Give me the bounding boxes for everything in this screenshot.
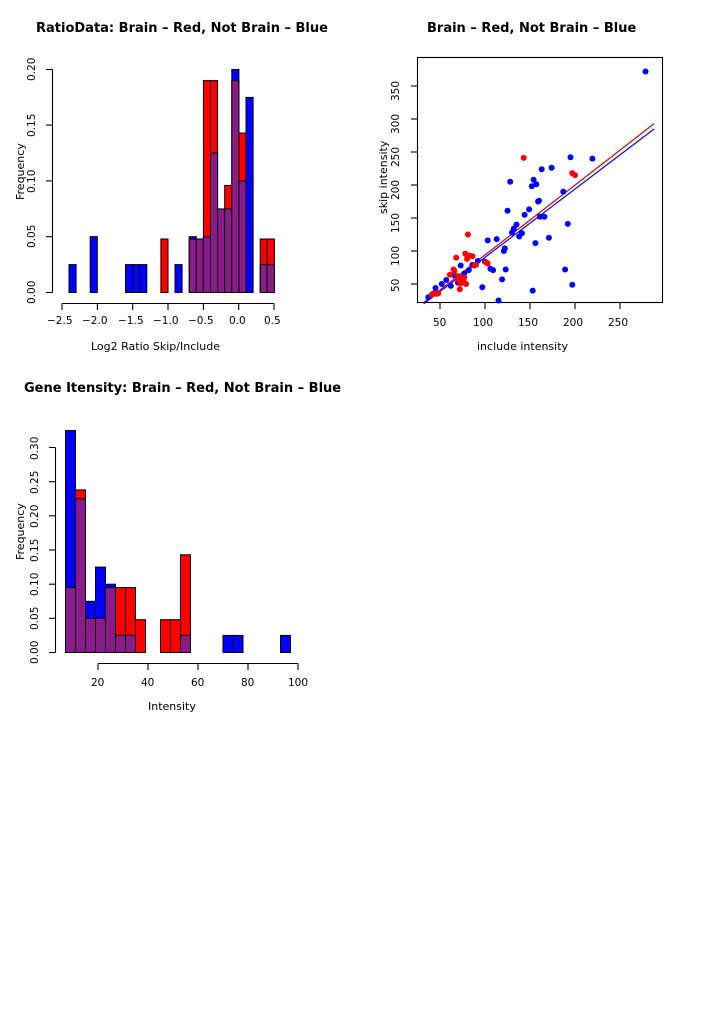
panel-ratio-histogram: RatioData: Brain – Red, Not Brain – Blue… [0, 0, 360, 360]
scatter-plot [360, 0, 720, 360]
scatter-points-brain [429, 155, 578, 298]
ratio-y-axis [46, 70, 53, 293]
ratio-histogram-bars [69, 70, 274, 293]
ratio-histogram-plot [0, 0, 360, 360]
gene-histogram-plot [0, 360, 360, 720]
panel-info: G6834280@J915583_RC@j_at altCassette Str… [360, 360, 720, 720]
scatter-x-ticks [440, 303, 620, 310]
scatter-y-ticks [411, 86, 418, 284]
gene-histogram-bars [66, 431, 291, 653]
gene-x-axis [98, 664, 298, 671]
ratio-x-axis [62, 304, 274, 311]
panel-intensity-scatter: Brain – Red, Not Brain – Blue skip inten… [360, 0, 720, 360]
scatter-points-not-brain [425, 69, 648, 304]
panel-gene-histogram: Gene Itensity: Brain – Red, Not Brain – … [0, 360, 360, 720]
scatter-plot-box [418, 58, 663, 303]
gene-y-axis [49, 448, 56, 653]
